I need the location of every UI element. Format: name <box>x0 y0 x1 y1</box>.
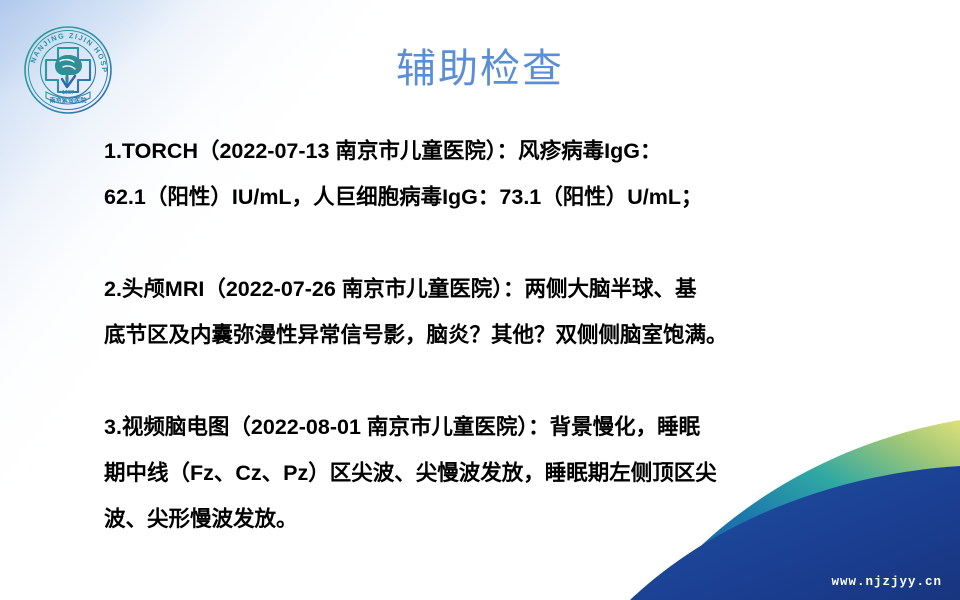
paragraph-line: 3.视频脑电图（2022-08-01 南京市儿童医院）：背景慢化，睡眠 <box>104 404 894 450</box>
paragraph-cranial-mri: 2.头颅MRI（2022-07-26 南京市儿童医院）：两侧大脑半球、基 底节区… <box>104 266 894 358</box>
paragraph-line: 波、尖形慢波发放。 <box>104 496 894 542</box>
page-title: 辅助检查 <box>0 44 960 94</box>
footer-website-url: www.njzjyy.cn <box>831 575 942 589</box>
paragraph-line: 底节区及内囊弥漫性异常信号影，脑炎？其他？双侧侧脑室饱满。 <box>104 312 894 358</box>
slide-canvas: NANJING ZIJIN HOSPITAL 1987 南京紫金医院 辅助检查 … <box>0 0 960 600</box>
paragraph-line: 2.头颅MRI（2022-07-26 南京市儿童医院）：两侧大脑半球、基 <box>104 266 894 312</box>
paragraph-line: 62.1（阳性）IU/mL，人巨细胞病毒IgG：73.1（阳性）U/mL； <box>104 174 894 220</box>
paragraph-video-eeg: 3.视频脑电图（2022-08-01 南京市儿童医院）：背景慢化，睡眠 期中线（… <box>104 404 894 542</box>
content-body: 1.TORCH（2022-07-13 南京市儿童医院）：风疹病毒IgG： 62.… <box>104 128 894 542</box>
paragraph-torch: 1.TORCH（2022-07-13 南京市儿童医院）：风疹病毒IgG： 62.… <box>104 128 894 220</box>
svg-text:南京紫金医院: 南京紫金医院 <box>49 97 87 105</box>
paragraph-line: 1.TORCH（2022-07-13 南京市儿童医院）：风疹病毒IgG： <box>104 128 894 174</box>
paragraph-line: 期中线（Fz、Cz、Pz）区尖波、尖慢波发放，睡眠期左侧顶区尖 <box>104 450 894 496</box>
